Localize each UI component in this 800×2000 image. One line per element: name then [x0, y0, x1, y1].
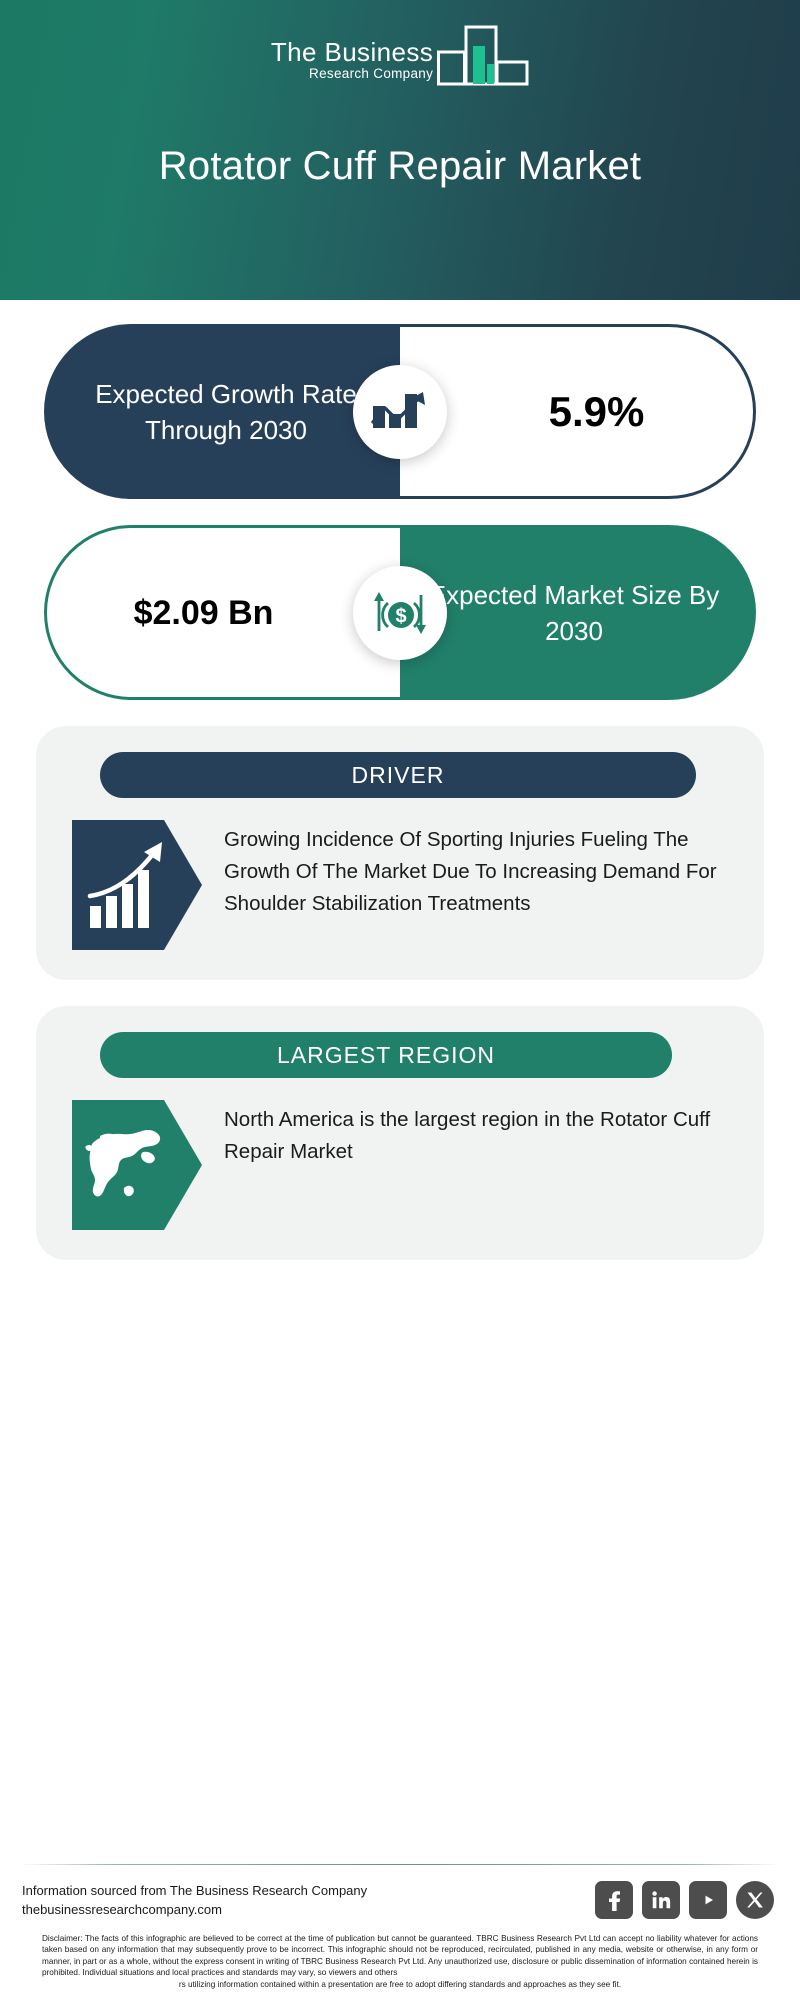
youtube-icon[interactable] [689, 1881, 727, 1919]
dollar-circle-arrows-icon: $ [353, 566, 447, 660]
logo-line-2: Research Company [309, 66, 433, 82]
growth-chart-arrow-icon [353, 365, 447, 459]
company-logo: The Business Research Company [271, 22, 529, 86]
logo-line-1: The Business [271, 38, 433, 66]
logo-wordmark: The Business Research Company [271, 38, 433, 86]
bar-chart-logo-icon [437, 24, 529, 86]
driver-text: Growing Incidence Of Sporting Injuries F… [224, 820, 734, 920]
disclaimer-last-line: rs utilizing information contained withi… [42, 1979, 758, 1990]
stat-value-growth-rate: 5.9% [400, 324, 756, 499]
page-title: Rotator Cuff Repair Market [0, 142, 800, 190]
disclaimer-text: Disclaimer: The facts of this infographi… [16, 1933, 784, 1990]
driver-body: Growing Incidence Of Sporting Injuries F… [66, 820, 734, 950]
stat-card-market-size: $2.09 Bn Expected Market Size By 2030 $ [44, 525, 756, 700]
header-banner: The Business Research Company Rotator Cu… [0, 0, 800, 300]
driver-panel: DRIVER Growing Incidence Of Sporting Inj… [36, 726, 764, 980]
largest-region-body: North America is the largest region in t… [66, 1100, 734, 1230]
facebook-icon[interactable] [595, 1881, 633, 1919]
stat-value-market-size: $2.09 Bn [44, 525, 400, 700]
x-twitter-icon[interactable] [736, 1881, 774, 1919]
stat-label-growth-rate: Expected Growth Rate Through 2030 [44, 324, 400, 499]
largest-region-heading: LARGEST REGION [100, 1032, 672, 1078]
footer-top-row: Information sourced from The Business Re… [16, 1881, 784, 1919]
footer: Information sourced from The Business Re… [0, 1864, 800, 2000]
linkedin-icon[interactable] [642, 1881, 680, 1919]
credit-line-2[interactable]: thebusinessresearchcompany.com [22, 1900, 367, 1919]
growth-bars-arrow-icon [72, 820, 202, 950]
source-credit: Information sourced from The Business Re… [22, 1881, 367, 1919]
north-america-map-icon [72, 1100, 202, 1230]
infographic-page: The Business Research Company Rotator Cu… [0, 0, 800, 2000]
credit-line-1: Information sourced from The Business Re… [22, 1881, 367, 1900]
disclaimer-main: Disclaimer: The facts of this infographi… [42, 1934, 758, 1977]
stat-label-market-size: Expected Market Size By 2030 [400, 525, 756, 700]
stat-card-growth-rate: Expected Growth Rate Through 2030 5.9% [44, 324, 756, 499]
svg-text:$: $ [395, 605, 406, 627]
stats-section: Expected Growth Rate Through 2030 5.9% $… [0, 300, 800, 726]
driver-heading: DRIVER [100, 752, 696, 798]
footer-divider [20, 1864, 780, 1865]
largest-region-panel: LARGEST REGION North America is the larg… [36, 1006, 764, 1260]
largest-region-text: North America is the largest region in t… [224, 1100, 734, 1168]
social-links [595, 1881, 774, 1919]
